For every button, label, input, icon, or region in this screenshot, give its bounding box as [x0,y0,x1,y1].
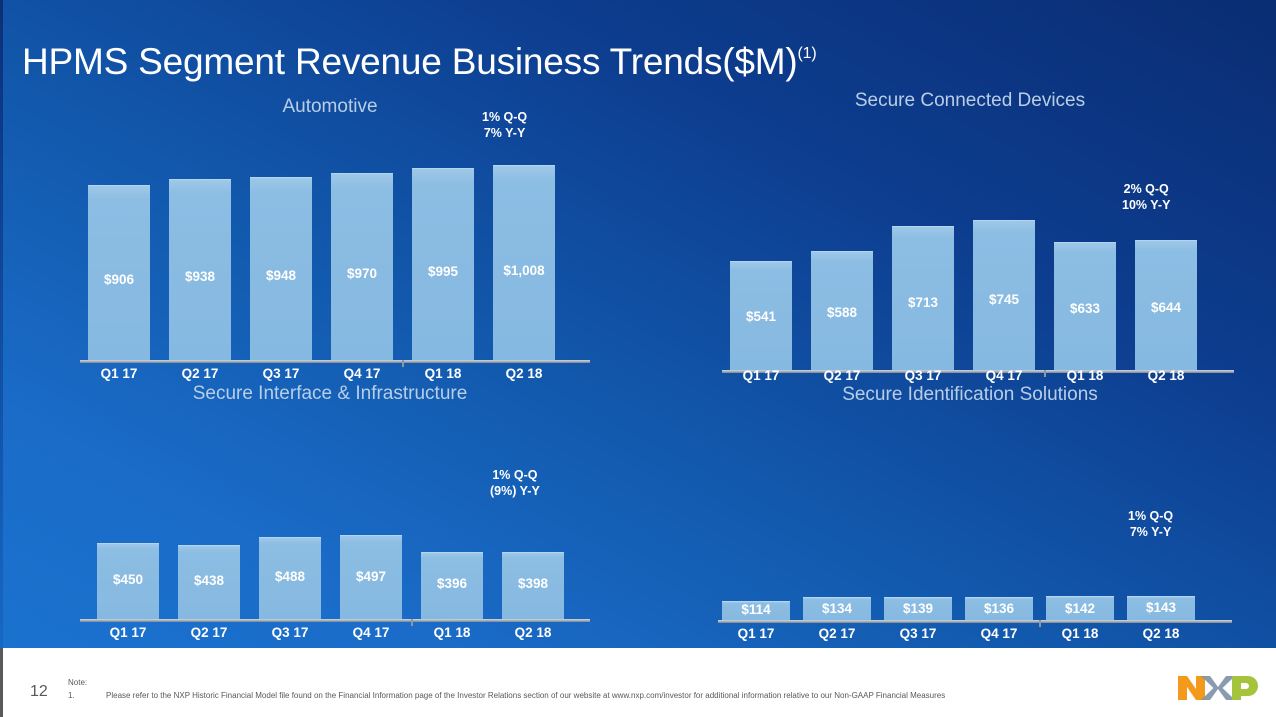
bar-value-label: $143 [1127,600,1195,615]
slide-footer [0,648,1276,717]
category-label-q4-17: Q4 17 [331,366,393,381]
category-label-q1-18: Q1 18 [412,366,474,381]
annotation-yy: 7% Y-Y [482,126,527,142]
annotation-qq: 1% Q-Q [490,468,540,484]
plot-area-automotive: $906$938$948$970$995$1,008 [60,140,600,360]
bar-value-label: $142 [1046,601,1114,616]
bar-group: $588 [811,140,873,370]
bar-group: $114 [722,428,790,620]
slide-left-edge [0,0,3,648]
bar-value-label: $438 [178,573,240,588]
bar-value-label: $398 [502,576,564,591]
growth-annotation-automotive: 1% Q-Q7% Y-Y [482,110,527,141]
annotation-qq: 2% Q-Q [1122,182,1170,198]
bar-value-label: $644 [1135,300,1197,315]
category-label-q3-17: Q3 17 [884,626,952,641]
bar-group: $136 [965,428,1033,620]
slide-canvas: HPMS Segment Revenue Business Trends($M)… [0,0,1276,648]
bar-value-label: $396 [421,576,483,591]
category-label-q1-18: Q1 18 [1054,368,1116,383]
bar-value-label: $114 [722,602,790,617]
category-label-q1-17: Q1 17 [97,625,159,640]
growth-annotation-secure-connected-devices: 2% Q-Q10% Y-Y [1122,182,1170,213]
annotation-qq: 1% Q-Q [1128,509,1173,525]
bar-value-label: $450 [97,572,159,587]
page-title: HPMS Segment Revenue Business Trends($M)… [22,41,816,83]
growth-annotation-secure-interface-infrastructure: 1% Q-Q(9%) Y-Y [490,468,540,499]
x-axis-line [80,360,590,363]
category-label-q2-17: Q2 17 [169,366,231,381]
bar-value-label: $1,008 [493,263,555,278]
annotation-qq: 1% Q-Q [482,110,527,126]
note-label: Note: [68,678,87,687]
category-label-q4-17: Q4 17 [965,626,1033,641]
annotation-yy: (9%) Y-Y [490,484,540,500]
category-label-q2-18: Q2 18 [1127,626,1195,641]
category-label-q1-17: Q1 17 [730,368,792,383]
category-label-q4-17: Q4 17 [340,625,402,640]
bar-value-label: $136 [965,601,1033,616]
bar-group: $713 [892,140,954,370]
bar-value-label: $948 [250,268,312,283]
page-number: 12 [30,683,48,701]
bar-value-label: $745 [973,292,1035,307]
year-separator-tick [411,619,413,626]
bar-value-label: $938 [169,269,231,284]
category-label-q2-17: Q2 17 [178,625,240,640]
category-label-q3-17: Q3 17 [259,625,321,640]
category-label-q2-18: Q2 18 [502,625,564,640]
bar-group: $995 [412,140,474,360]
bar-group: $970 [331,140,393,360]
note-text: Please refer to the NXP Historic Financi… [106,691,945,700]
category-label-q2-18: Q2 18 [1135,368,1197,383]
bar-group: $906 [88,140,150,360]
nxp-logo [1176,672,1260,704]
chart-title-secure-identification-solutions: Secure Identification Solutions [700,384,1240,406]
bar-value-label: $497 [340,569,402,584]
bar-value-label: $970 [331,266,393,281]
bar-value-label: $134 [803,601,871,616]
bar-group: $497 [340,427,402,619]
bar-group: $948 [250,140,312,360]
bar-group: $644 [1135,140,1197,370]
bar-group: $396 [421,427,483,619]
bar-group: $142 [1046,428,1114,620]
page-title-text: HPMS Segment Revenue Business Trends($M) [22,41,798,82]
category-label-q3-17: Q3 17 [250,366,312,381]
bar-group: $1,008 [493,140,555,360]
note-number: 1. [68,691,75,700]
bar-group: $134 [803,428,871,620]
chart-title-secure-connected-devices: Secure Connected Devices [700,90,1240,112]
bar-group: $938 [169,140,231,360]
footer-left-edge [0,648,3,717]
annotation-yy: 10% Y-Y [1122,198,1170,214]
growth-annotation-secure-identification-solutions: 1% Q-Q7% Y-Y [1128,509,1173,540]
bar-value-label: $488 [259,569,321,584]
bar-group: $450 [97,427,159,619]
bar-value-label: $713 [892,295,954,310]
bar-group: $398 [502,427,564,619]
year-separator-tick [1044,370,1046,377]
category-label-q2-18: Q2 18 [493,366,555,381]
category-label-q1-18: Q1 18 [1046,626,1114,641]
category-label-q2-17: Q2 17 [803,626,871,641]
bar-value-label: $995 [412,264,474,279]
bar-group: $139 [884,428,952,620]
category-label-q2-17: Q2 17 [811,368,873,383]
category-label-q1-18: Q1 18 [421,625,483,640]
bar-value-label: $633 [1054,301,1116,316]
bar-group: $745 [973,140,1035,370]
plot-area-secure-interface-infrastructure: $450$438$488$497$396$398 [60,427,600,619]
bar-group: $633 [1054,140,1116,370]
year-separator-tick [402,360,404,367]
bar-group: $438 [178,427,240,619]
category-label-q3-17: Q3 17 [892,368,954,383]
chart-title-secure-interface-infrastructure: Secure Interface & Infrastructure [60,383,600,405]
x-axis-line [80,619,590,622]
x-axis-line [718,620,1232,623]
page-title-superscript: (1) [798,45,817,62]
category-label-q1-17: Q1 17 [722,626,790,641]
bar-value-label: $588 [811,305,873,320]
bar-group: $541 [730,140,792,370]
annotation-yy: 7% Y-Y [1128,525,1173,541]
bar-value-label: $906 [88,272,150,287]
bar-group: $488 [259,427,321,619]
category-label-q4-17: Q4 17 [973,368,1035,383]
year-separator-tick [1039,620,1041,627]
category-label-q1-17: Q1 17 [88,366,150,381]
nxp-logo-icon [1176,672,1260,704]
bar-value-label: $139 [884,601,952,616]
bar-value-label: $541 [730,309,792,324]
plot-area-secure-connected-devices: $541$588$713$745$633$644 [700,140,1240,370]
